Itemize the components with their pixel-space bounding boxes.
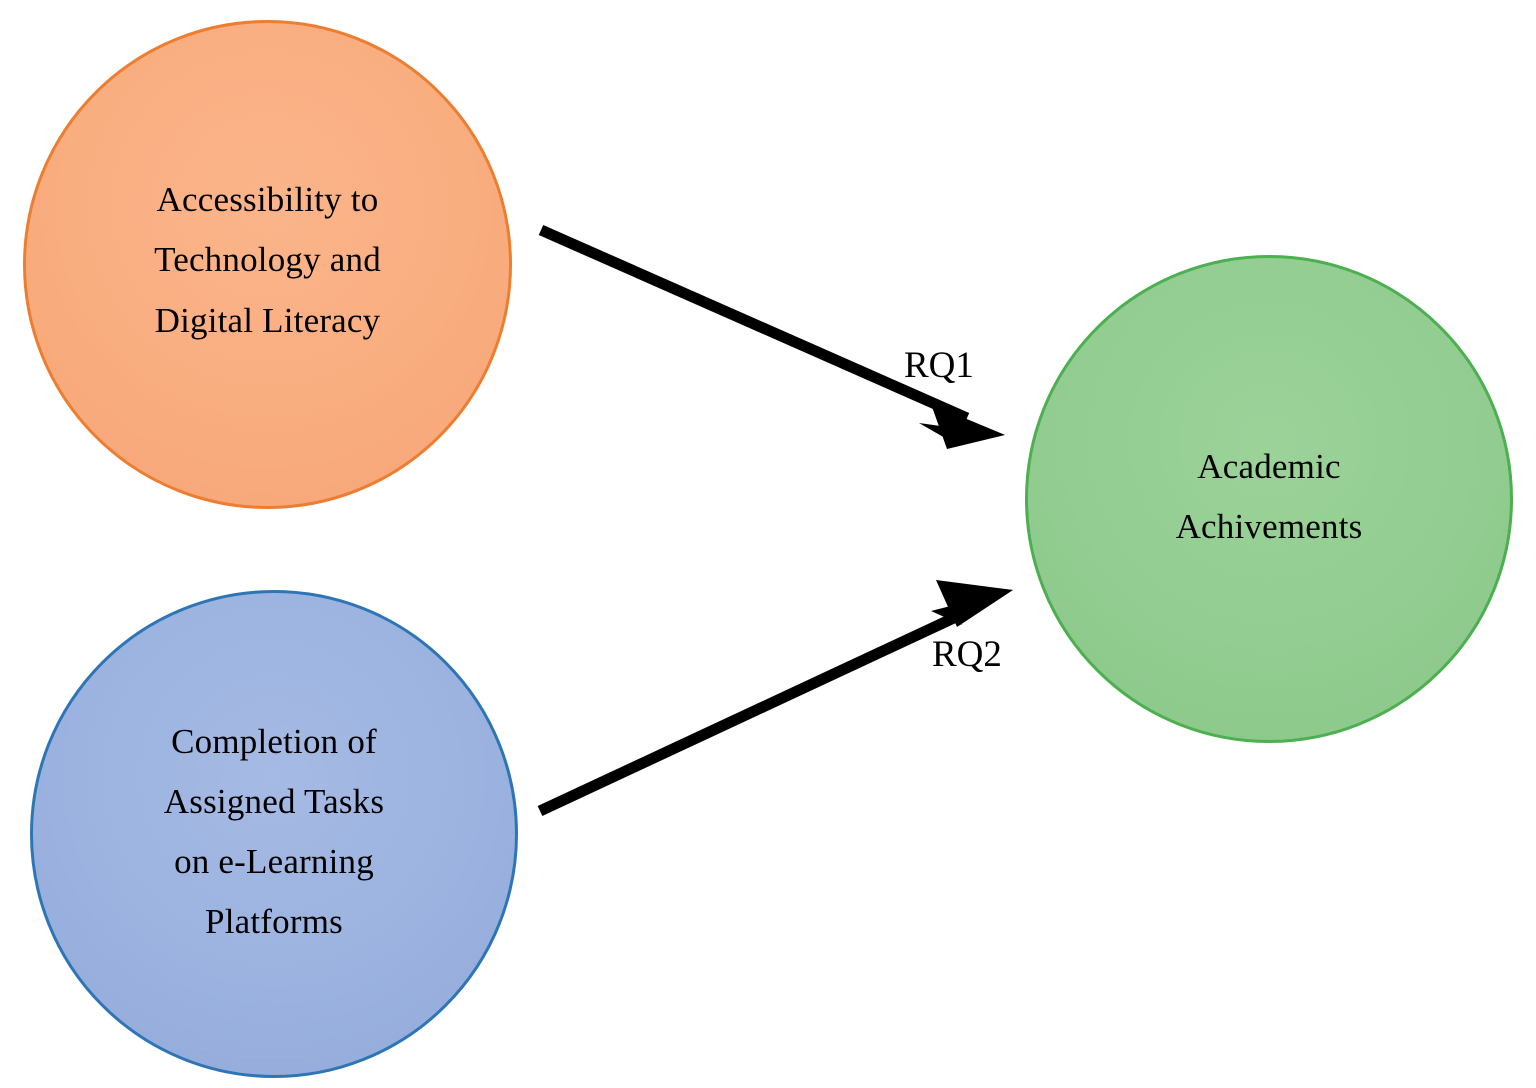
node-outcome-label: Academic Achivements	[1160, 437, 1379, 557]
edge-label-rq2: RQ2	[932, 633, 1002, 676]
edge-rq1-arrow	[541, 230, 1005, 449]
node-academic-achievements[interactable]: Academic Achivements	[1025, 255, 1513, 743]
node-accessibility-to-technology-and-digital-literacy[interactable]: Accessibility to Technology and Digital …	[23, 20, 512, 509]
edge-rq2-arrow	[540, 580, 1013, 811]
node-completion-of-assigned-tasks-on-e-learning-platforms[interactable]: Completion of Assigned Tasks on e-Learni…	[30, 590, 518, 1078]
edge-label-rq1: RQ1	[904, 344, 974, 387]
conceptual-framework-diagram: Accessibility to Technology and Digital …	[0, 0, 1536, 1088]
node-completion-label: Completion of Assigned Tasks on e-Learni…	[148, 712, 400, 953]
node-accessibility-label: Accessibility to Technology and Digital …	[138, 170, 397, 351]
